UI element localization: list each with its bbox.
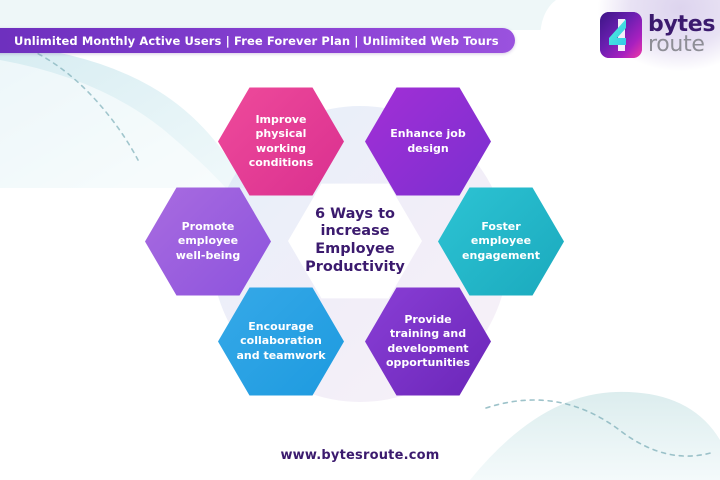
brand-logo[interactable]: bytes route bbox=[600, 12, 715, 58]
hexagon-cluster: Improvephysicalworkingconditions Enhance… bbox=[160, 78, 560, 428]
hex-improve-physical-working-conditions[interactable]: Improvephysicalworkingconditions bbox=[218, 84, 344, 199]
hex-promote-employee-well-being[interactable]: Promoteemployeewell-being bbox=[145, 184, 271, 299]
promo-banner: Unlimited Monthly Active Users | Free Fo… bbox=[0, 28, 515, 53]
hex-center-title: 6 Ways toincreaseEmployeeProductivity bbox=[288, 180, 422, 302]
hex-label: Improvephysicalworkingconditions bbox=[235, 113, 328, 169]
hex-encourage-collaboration-and-teamwork[interactable]: Encouragecollaborationand teamwork bbox=[218, 284, 344, 399]
hex-enhance-job-design[interactable]: Enhance jobdesign bbox=[365, 84, 491, 199]
promo-banner-text: Unlimited Monthly Active Users | Free Fo… bbox=[14, 34, 499, 48]
hex-label: Encouragecollaborationand teamwork bbox=[222, 320, 339, 362]
hex-label: Enhance jobdesign bbox=[376, 127, 479, 155]
hex-label: Providetraining anddevelopmentopportunit… bbox=[372, 313, 484, 369]
logo-mark-glyph bbox=[600, 12, 642, 58]
center-title-text: 6 Ways toincreaseEmployeeProductivity bbox=[297, 206, 413, 277]
hex-label: Fosteremployeeengagement bbox=[448, 220, 554, 262]
logo-word-route: route bbox=[648, 35, 715, 55]
infographic-canvas: Unlimited Monthly Active Users | Free Fo… bbox=[0, 0, 720, 480]
hex-foster-employee-engagement[interactable]: Fosteremployeeengagement bbox=[438, 184, 564, 299]
hex-label: Promoteemployeewell-being bbox=[162, 220, 255, 262]
logo-wordmark: bytes route bbox=[648, 15, 715, 56]
bytesroute-logo-icon bbox=[600, 12, 642, 58]
hex-provide-training-and-development-opportunities[interactable]: Providetraining anddevelopmentopportunit… bbox=[365, 284, 491, 399]
footer-website-url[interactable]: www.bytesroute.com bbox=[0, 448, 720, 463]
